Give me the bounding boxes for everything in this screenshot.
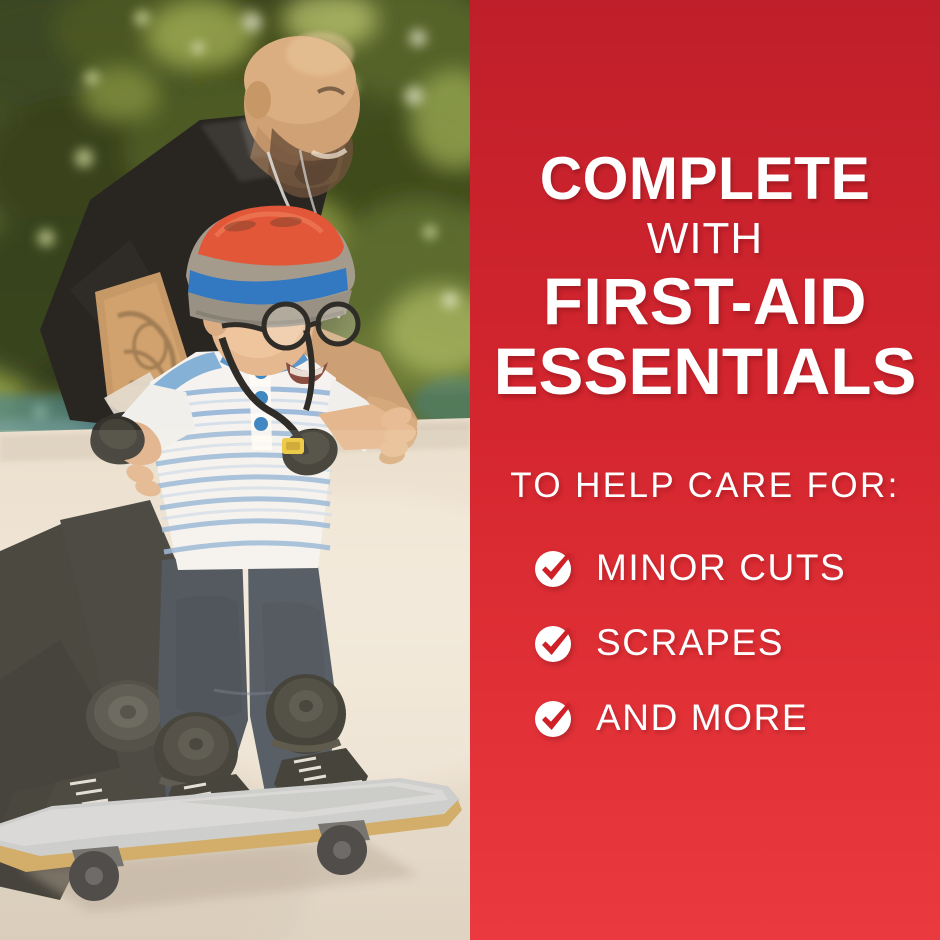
skatepark-photo-illustration xyxy=(0,0,470,940)
hero-photo xyxy=(0,0,470,940)
headline-line-complete: COMPLETE xyxy=(485,150,926,209)
promo-banner: COMPLETE WITH FIRST-AID ESSENTIALS TO HE… xyxy=(0,0,940,940)
list-item: AND MORE xyxy=(532,696,940,740)
list-item-label: SCRAPES xyxy=(596,624,784,661)
list-item: SCRAPES xyxy=(532,621,940,665)
subheadline: TO HELP CARE FOR: xyxy=(470,466,940,506)
copy-panel: COMPLETE WITH FIRST-AID ESSENTIALS TO HE… xyxy=(470,0,940,940)
list-item-label: AND MORE xyxy=(596,699,808,736)
headline-block: COMPLETE WITH FIRST-AID ESSENTIALS xyxy=(470,150,940,404)
check-circle-icon xyxy=(532,621,576,665)
benefit-list: MINOR CUTS SCRAPES AND MORE xyxy=(470,546,940,740)
headline-line-first-aid: FIRST-AID xyxy=(482,268,928,334)
check-circle-icon xyxy=(532,696,576,740)
headline-line-essentials: ESSENTIALS xyxy=(476,338,935,404)
headline-line-with: WITH xyxy=(480,211,930,266)
list-item-label: MINOR CUTS xyxy=(596,549,846,586)
check-circle-icon xyxy=(532,546,576,590)
list-item: MINOR CUTS xyxy=(532,546,940,590)
